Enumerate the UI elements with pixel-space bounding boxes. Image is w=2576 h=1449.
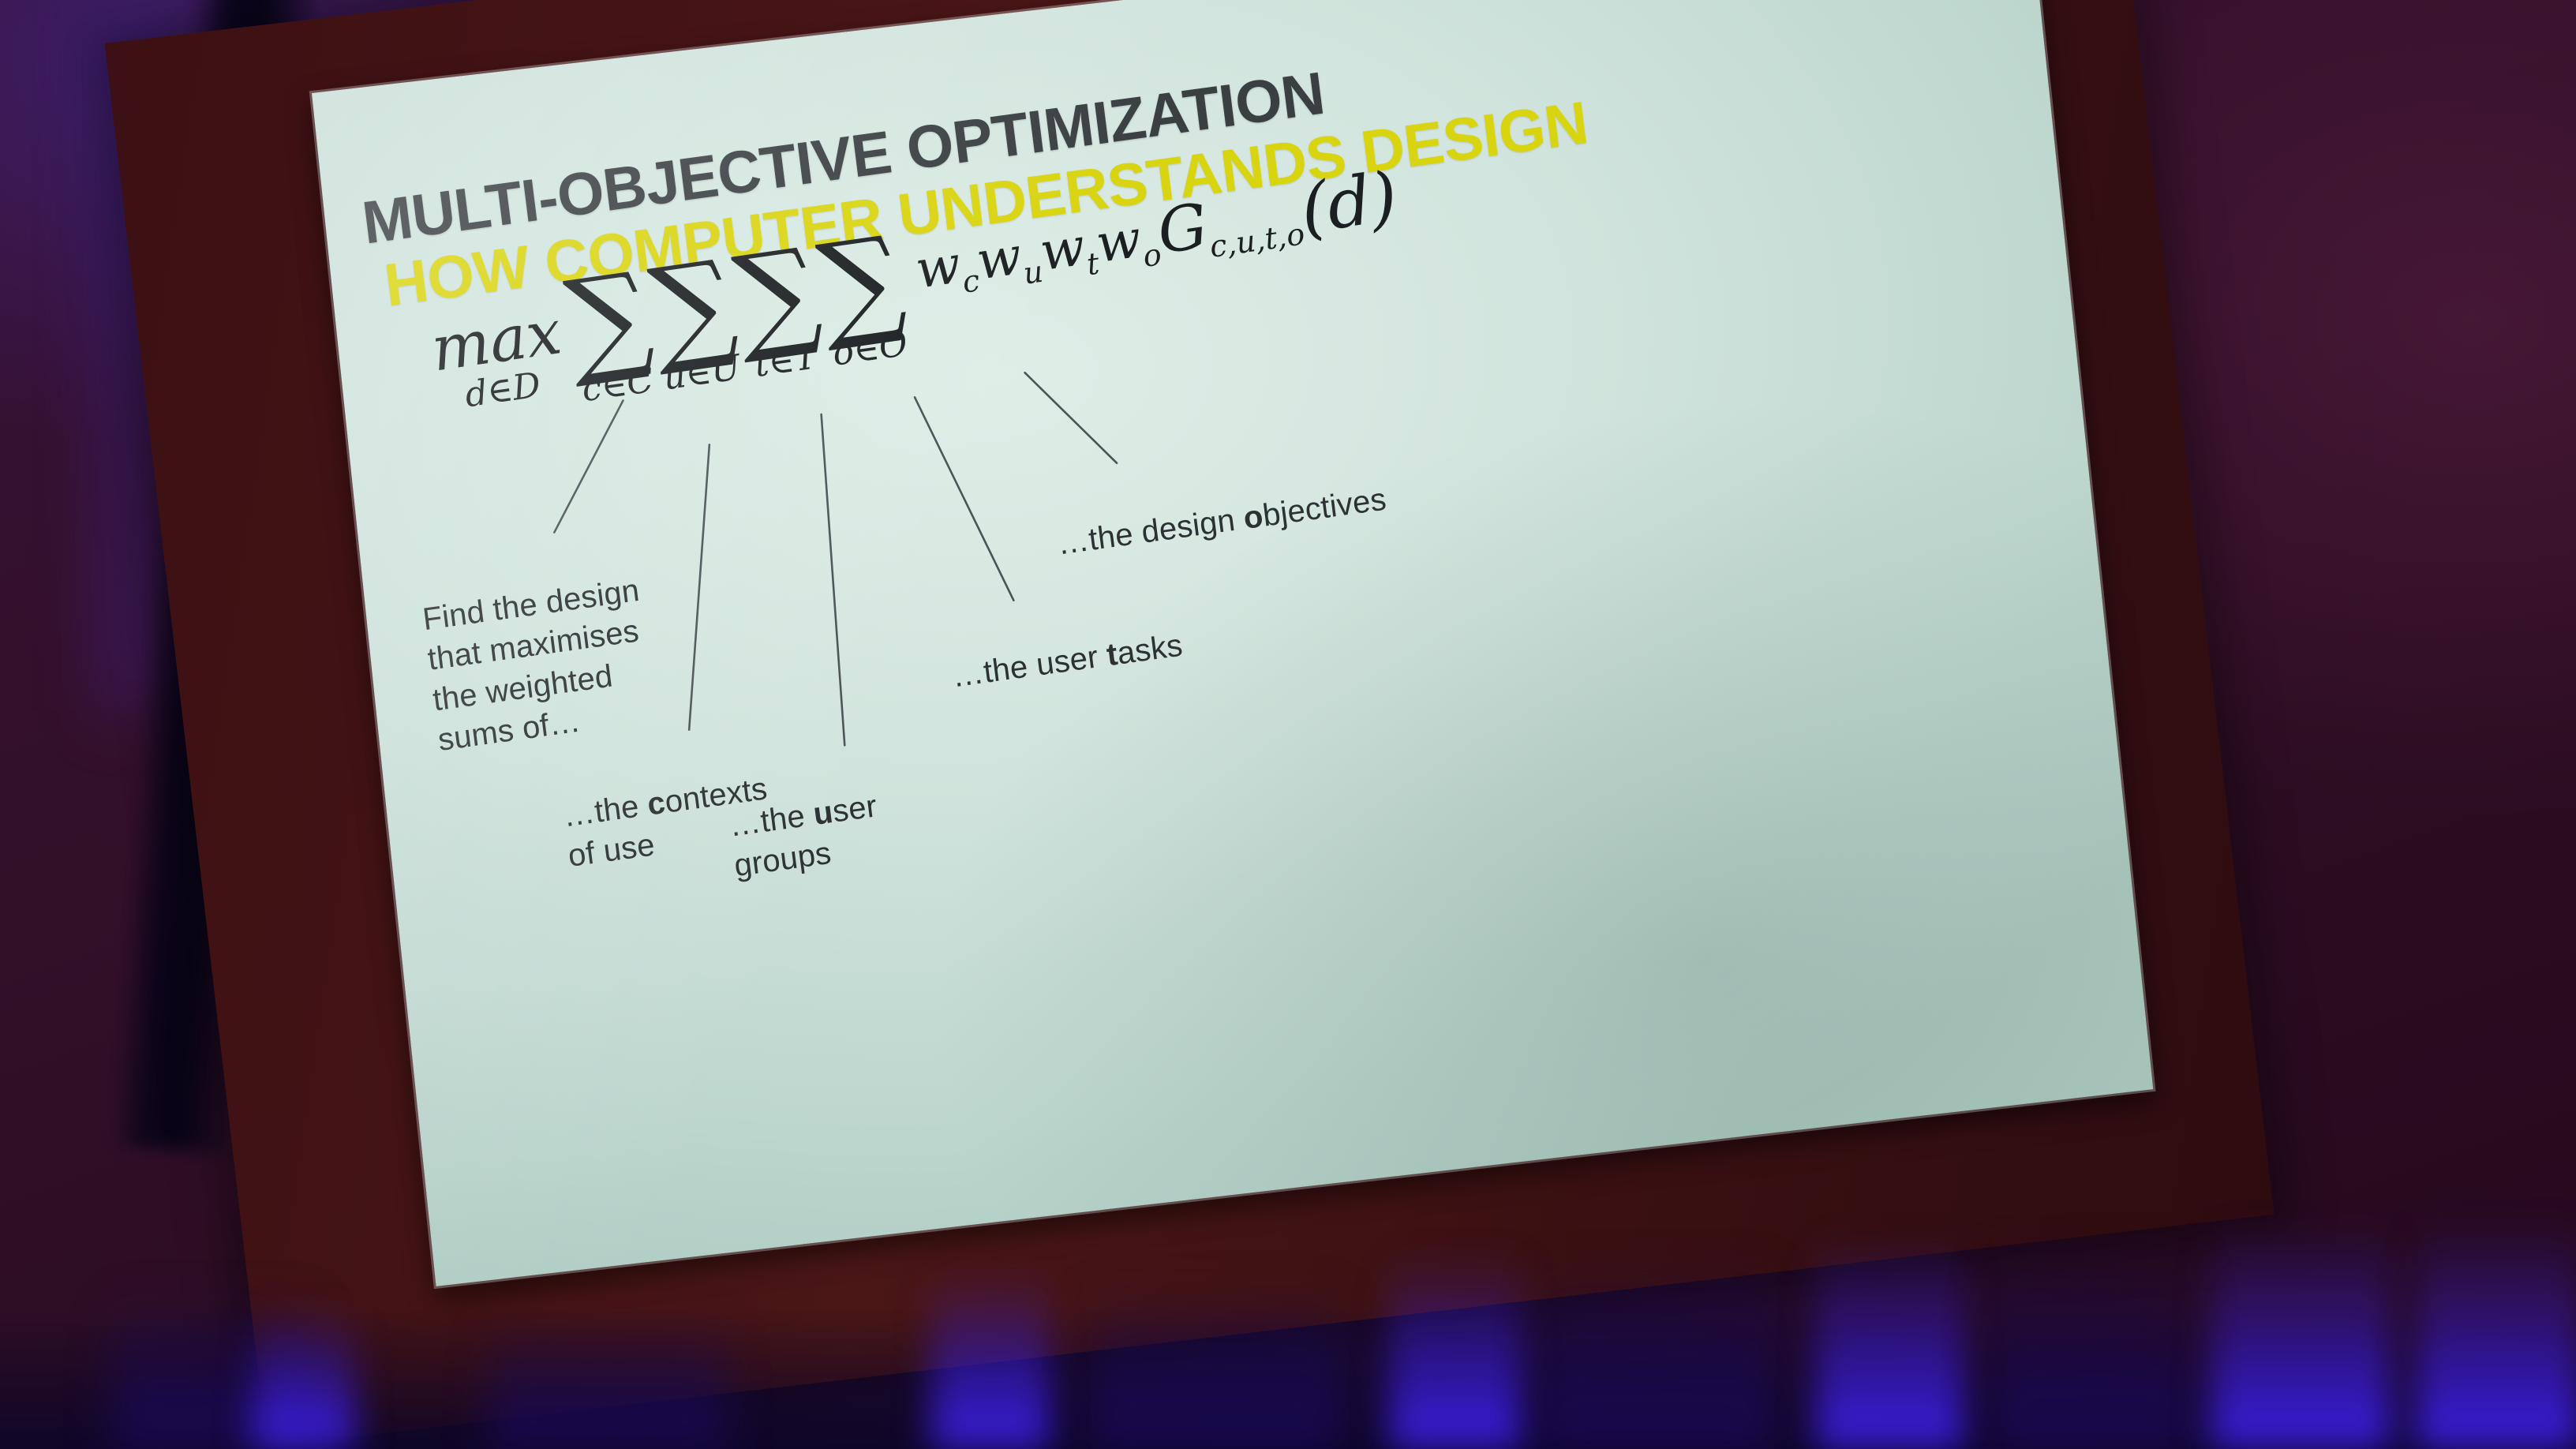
callout-objectives-prefix: …the design: [1055, 502, 1245, 562]
callout-find-the-design-text: Find the design that maximises the weigh…: [421, 573, 642, 758]
stage-beam-6: [2415, 1220, 2576, 1449]
formula-sum-u: ∑ u∈U: [645, 249, 745, 397]
stage-floor-lighting: [0, 1196, 2576, 1449]
formula-max-operator: max d∈D: [428, 301, 571, 428]
max-subscript: d∈D: [463, 368, 543, 413]
leader-line-user-groups: [811, 414, 856, 745]
callout-user-groups: …the user groups: [722, 747, 885, 887]
stage-beam-dim-5: [1989, 1244, 2194, 1449]
callout-contexts-prefix: …the: [561, 788, 650, 833]
leader-line-contexts-of-use: [660, 444, 738, 729]
goal-function-G: G: [1154, 191, 1212, 268]
sigma-subscript-u: u∈U: [661, 350, 743, 396]
callout-objectives-suffix: bjectives: [1261, 482, 1389, 534]
leader-line-user-tasks: [915, 388, 1013, 609]
max-symbol: max: [428, 301, 564, 381]
sigma-symbol-t: ∑: [729, 237, 826, 353]
sigma-symbol-u: ∑: [645, 249, 741, 365]
sigma-subscript-o: o∈O: [831, 327, 910, 372]
goal-function-subscript: c,u,t,o: [1207, 216, 1307, 265]
callout-design-objectives: …the design objectives: [1050, 440, 1388, 565]
weight-o: wo: [1092, 205, 1163, 275]
formula-sum-t: ∑ t∈T: [729, 237, 829, 384]
stage-beam-dim-2: [489, 1315, 726, 1449]
stage-beam-5: [2210, 1224, 2391, 1449]
callout-find-the-design: Find the design that maximises the weigh…: [415, 530, 657, 761]
stage-beam-1: [253, 1307, 355, 1449]
callout-user-tasks: …the user tasks: [945, 586, 1185, 698]
stage-beam-3: [1389, 1252, 1523, 1449]
formula-sum-c: ∑ c∈C: [561, 261, 661, 409]
slide-content: MULTI-OBJECTIVE OPTIMIZATION HOW COMPUTE…: [312, 0, 2153, 1286]
sigma-symbol-o: ∑: [813, 225, 909, 341]
leader-line-design-objectives: [1025, 363, 1117, 472]
callout-users-prefix: …the: [727, 797, 815, 843]
projected-slide: MULTI-OBJECTIVE OPTIMIZATION HOW COMPUTE…: [312, 0, 2153, 1286]
weight-t: wt: [1036, 215, 1100, 283]
stage-beam-dim-4: [1539, 1260, 1776, 1449]
formula-sum-o: ∑ o∈O: [813, 225, 913, 373]
weight-c: wc: [912, 231, 981, 300]
sigma-symbol-c: ∑: [561, 261, 657, 377]
callout-tasks-suffix: asks: [1115, 628, 1185, 672]
stage-beam-2: [931, 1267, 1050, 1449]
stage-beam-dim-3: [1089, 1283, 1342, 1449]
leader-line-find-the-design: [541, 401, 635, 533]
screenshot-stage: MULTI-OBJECTIVE OPTIMIZATION HOW COMPUTE…: [0, 0, 2576, 1449]
sigma-subscript-c: c∈C: [580, 363, 656, 407]
weight-u: wu: [973, 223, 1044, 292]
callout-tasks-prefix: …the user: [950, 638, 1109, 695]
sigma-subscript-t: t∈T: [753, 339, 820, 383]
goal-function-argument: (d): [1296, 157, 1402, 249]
stage-beam-4: [1815, 1236, 1965, 1449]
